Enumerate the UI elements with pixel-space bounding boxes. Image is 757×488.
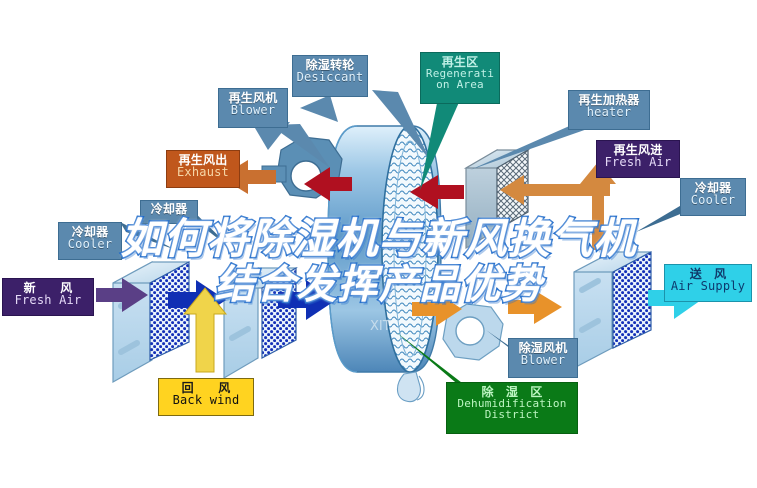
label-regeneration-area-en2: on Area [421,79,499,90]
dehumidifier-airflow-diagram: XIT [0,0,757,488]
label-dehum-district-en2: District [447,409,577,420]
label-cooler-left-b-cn: 冷却器 [141,203,197,215]
label-desiccant-wheel: 除湿转轮 Desiccant [292,55,368,97]
cooler-coil-2 [224,268,296,378]
watermark-text: XIT [370,319,391,334]
label-regen-blower: 再生风机 Blower [218,88,288,128]
label-regen-fresh-air: 再生风进 Fresh Air [596,140,680,178]
label-desiccant-wheel-en: Desiccant [293,71,367,83]
label-regen-heater: 再生加热器 heater [568,90,650,130]
label-regeneration-area: 再生区 Regenerati on Area [420,52,500,104]
label-cooler-left-b: 冷却器 [140,200,198,224]
label-fresh-air-left-en: Fresh Air [3,294,93,306]
label-regen-exhaust: 再生风出 Exhaust [166,150,240,188]
label-regen-fresh-air-en: Fresh Air [597,156,679,168]
label-regen-blower-en: Blower [219,104,287,116]
label-cooler-right: 冷却器 Cooler [680,178,746,216]
label-cooler-right-en: Cooler [681,194,745,206]
label-fresh-air-left: 新 风 Fresh Air [2,278,94,316]
label-back-wind: 回 风 Back wind [158,378,254,416]
label-dehum-district: 除 湿 区 Dehumidification District [446,382,578,434]
arrow-dry-air-2 [508,290,562,324]
label-regen-exhaust-en: Exhaust [167,166,239,178]
label-back-wind-en: Back wind [159,394,253,406]
label-cooler-left-a-en: Cooler [59,238,121,250]
condensate-drop [397,372,424,402]
cooler-coil-3 [574,252,651,368]
label-air-supply: 送 风 Air Supply [664,264,752,302]
label-air-supply-en: Air Supply [665,280,751,292]
label-dehum-blower-en: Blower [509,354,577,366]
label-dehum-blower: 除湿风机 Blower [508,338,578,378]
desiccant-rotor: XIT [328,126,441,372]
label-regen-heater-en: heater [569,106,649,118]
label-cooler-left-a: 冷却器 Cooler [58,222,122,260]
